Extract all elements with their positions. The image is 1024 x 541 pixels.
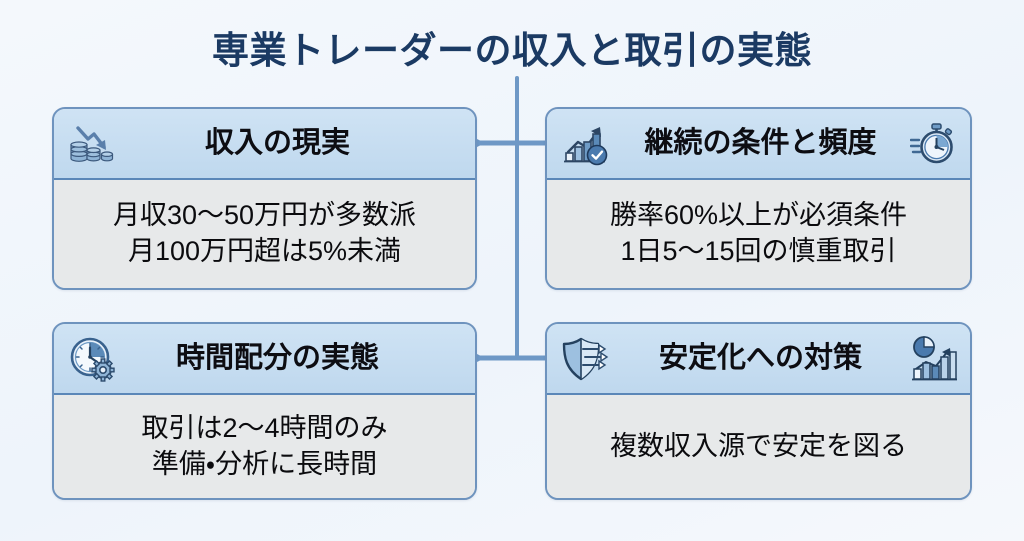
shield-arrows-icon	[561, 335, 609, 383]
clock-gear-icon	[68, 335, 116, 383]
card-income-reality[interactable]: 収入の現実 月収30〜50万円が多数派 月100万円超は5%未満	[52, 107, 477, 290]
card-header: 時間配分の実態	[54, 324, 475, 395]
card-body: 勝率60%以上が必須条件 1日5〜15回の慎重取引	[547, 180, 970, 288]
card-title: 収入の現実	[179, 129, 350, 158]
card-body: 月収30〜50万円が多数派 月100万円超は5%未満	[54, 180, 475, 288]
declining-coins-chart-icon	[68, 120, 116, 168]
card-time-allocation[interactable]: 時間配分の実態 取引は2〜4時間のみ 準備・分析に長時間	[52, 322, 477, 500]
card-body-line: 1日5〜15回の慎重取引	[620, 234, 896, 270]
page-title: 専業トレーダーの収入と取引の実態	[0, 20, 1024, 74]
card-body: 取引は2〜4時間のみ 準備・分析に長時間	[54, 395, 475, 498]
card-body-line: 勝率60%以上が必須条件	[610, 198, 907, 234]
card-body: 複数収入源で安定を図る	[547, 395, 970, 498]
pie-bar-growth-icon	[910, 335, 958, 383]
card-body-line: 複数収入源で安定を図る	[610, 429, 907, 465]
card-body-line: 取引は2〜4時間のみ	[141, 411, 387, 447]
card-continuation-conditions[interactable]: 継続の条件と頻度	[545, 107, 972, 290]
card-body-line: 月収30〜50万円が多数派	[113, 198, 416, 234]
card-body-line: 月100万円超は5%未満	[128, 234, 401, 270]
card-header: 継続の条件と頻度	[547, 109, 970, 180]
card-header: 安定化への対策	[547, 324, 970, 395]
card-header: 収入の現実	[54, 109, 475, 180]
stopwatch-icon	[910, 120, 958, 168]
card-body-line: 準備・分析に長時間	[152, 447, 377, 483]
card-title: 安定化への対策	[649, 344, 868, 373]
card-stabilization-measures[interactable]: 安定化への対策	[545, 322, 972, 500]
diagram-canvas: 専業トレーダーの収入と取引の実態	[0, 0, 1024, 541]
card-title: 継続の条件と頻度	[634, 129, 882, 158]
bar-chart-check-icon	[561, 120, 609, 168]
card-title: 時間配分の実態	[150, 344, 379, 373]
